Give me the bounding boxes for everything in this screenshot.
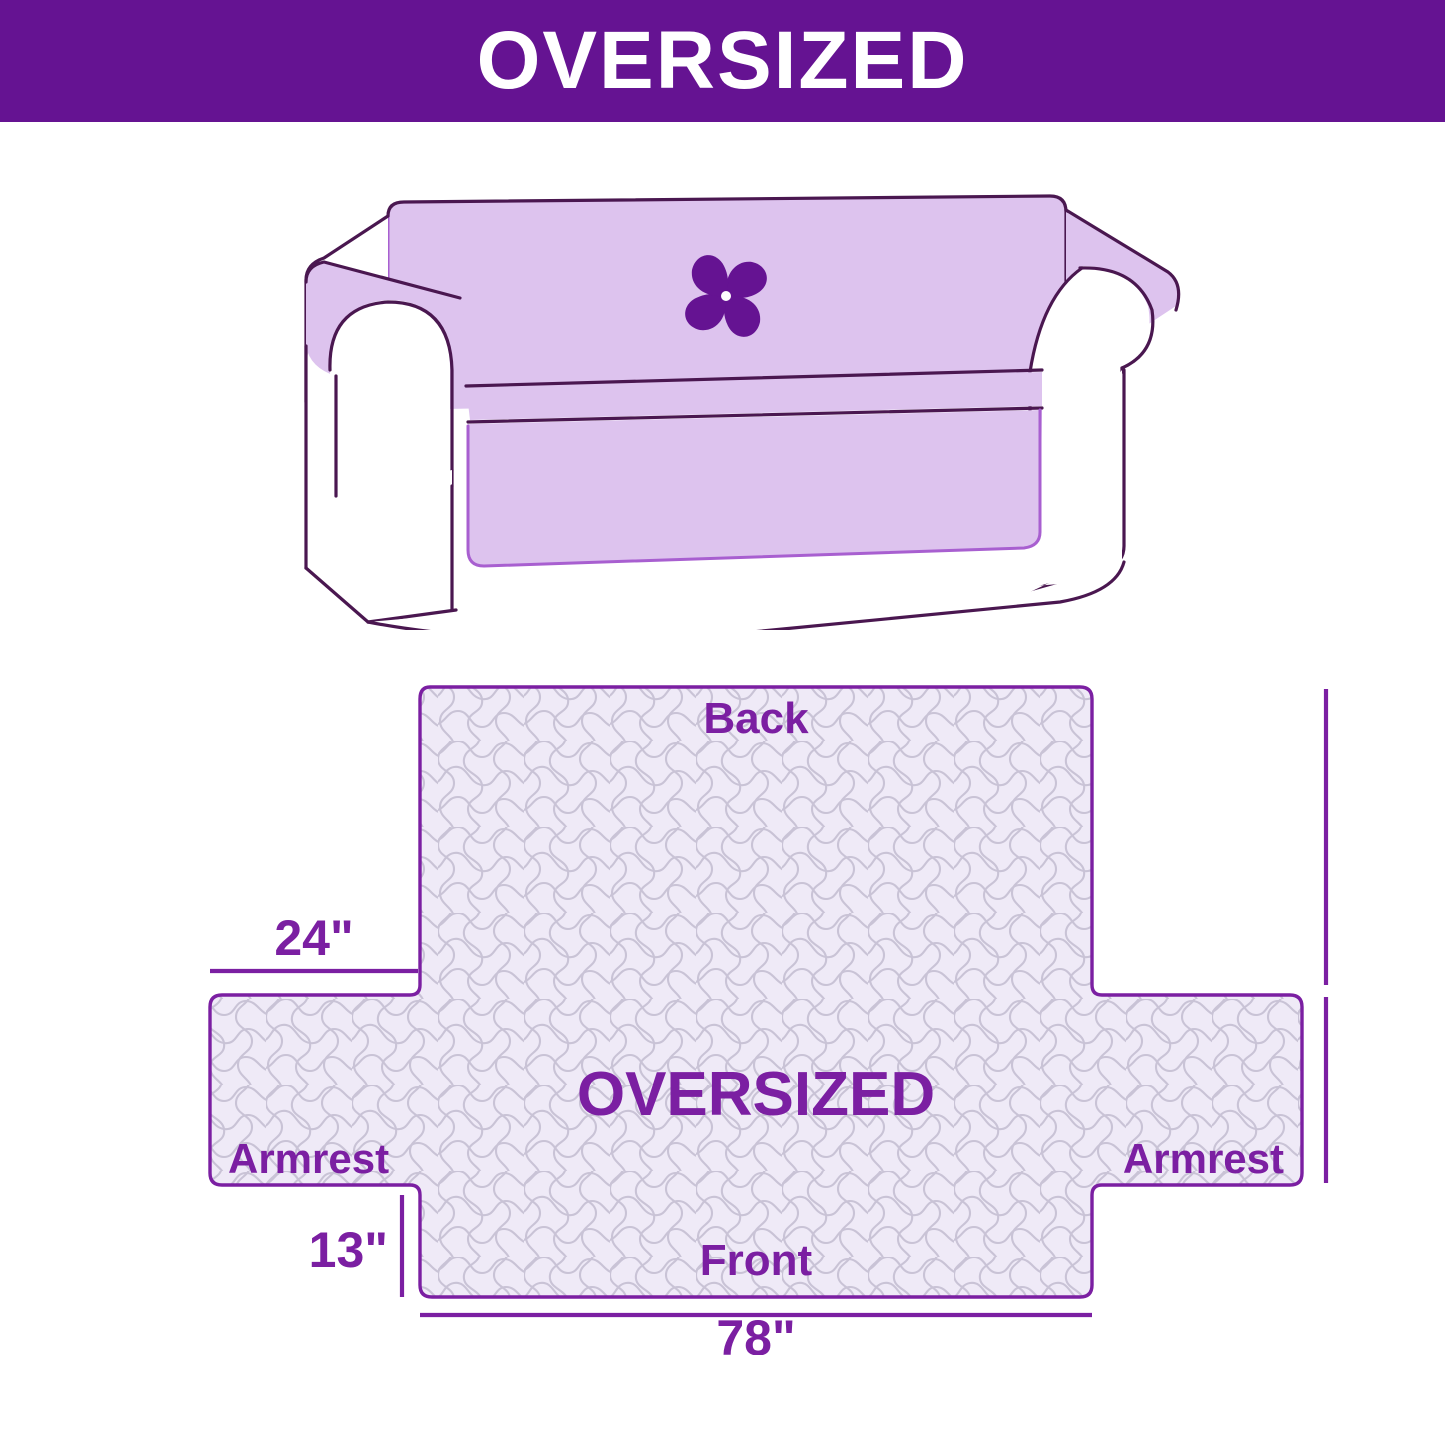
diagram-center-label: OVERSIZED <box>577 1060 935 1129</box>
dimension-label-24: 24" <box>274 910 353 966</box>
header-banner: OVERSIZED <box>0 0 1445 122</box>
dimension-label-13: 13" <box>309 1222 388 1278</box>
page-title: OVERSIZED <box>477 20 969 102</box>
product-infographic: OVERSIZED .ln { fill:none; stroke:#4A175… <box>0 0 1445 1445</box>
cover-layout-diagram: .cut { fill:url(#quilt); stroke:#7B1FA2;… <box>180 655 1330 1355</box>
panel-label-front: Front <box>700 1236 813 1285</box>
panel-label-armrest-left: Armrest <box>228 1135 389 1182</box>
dimension-label-78: 78" <box>716 1310 795 1355</box>
panel-label-back: Back <box>703 694 809 743</box>
sofa-illustration: .ln { fill:none; stroke:#4A1750; stroke-… <box>270 170 1190 630</box>
sofa-seat <box>466 370 1042 566</box>
cover-outline <box>210 687 1302 1297</box>
panel-label-armrest-right: Armrest <box>1123 1135 1284 1182</box>
sofa-left-armrest <box>306 262 463 622</box>
